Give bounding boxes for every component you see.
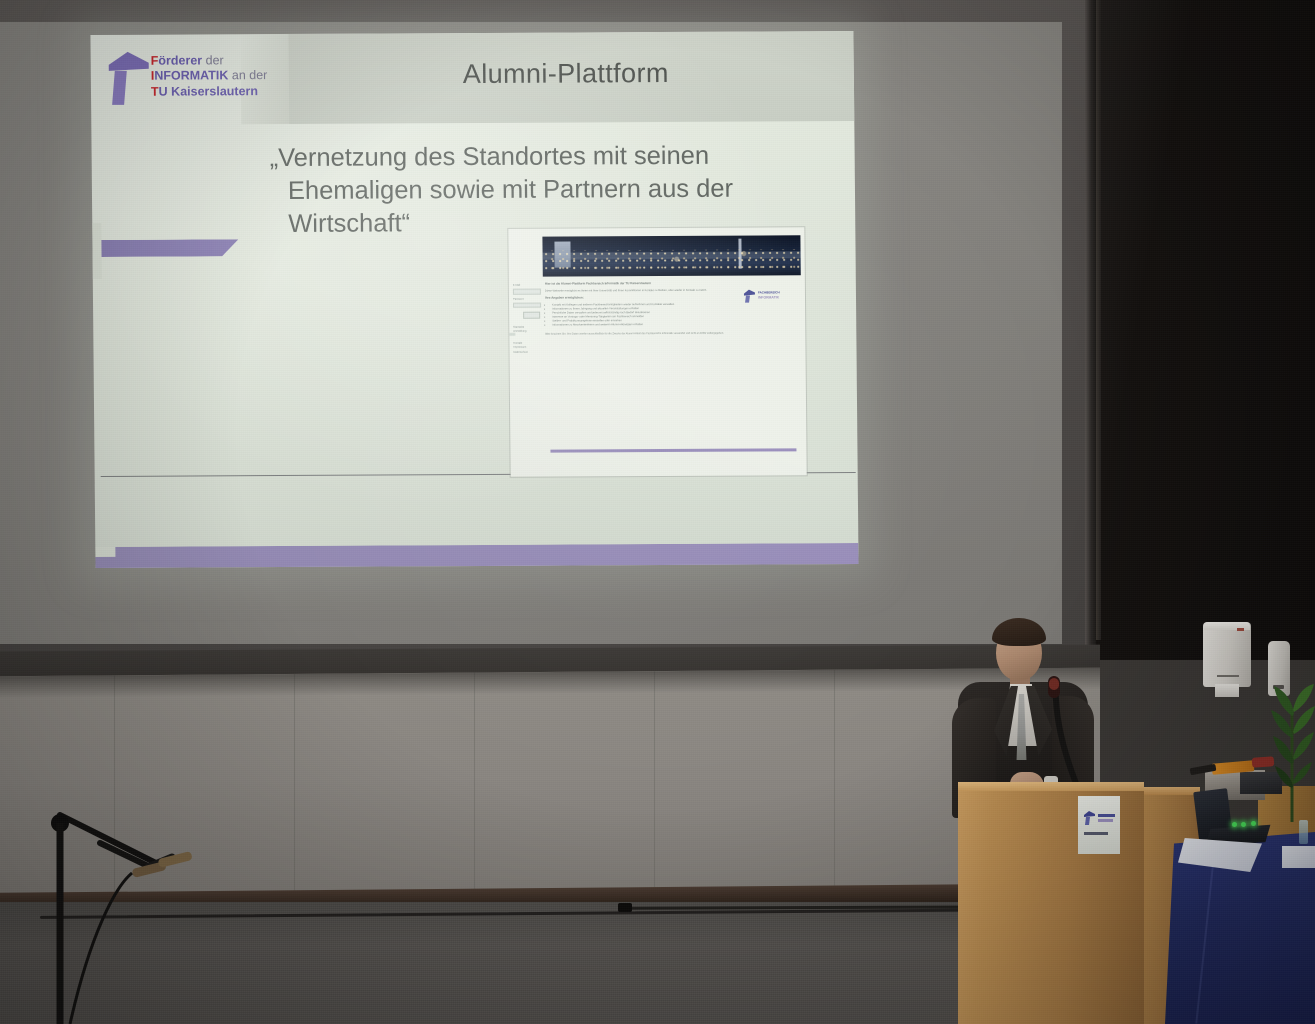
password-field[interactable] [513,303,541,309]
presenter-hair [992,618,1046,646]
slide-accent-bar-notch [92,223,102,279]
slide-quote: „Vernetzung des Standortes mit seinen Eh… [269,139,810,241]
logo-text-bottom: INFORMATIK [758,295,779,299]
website-bottom-rule [550,448,796,452]
foerderer-pillar-logo-mark [107,49,152,107]
website-list-intro: Ihre Angaben ermöglichen: [545,296,757,301]
email-label: E-Mail [513,285,541,288]
website-headline: Hier ist die Alumni-Plattform Fachbereic… [545,282,757,287]
projected-slide: Alumni-Plattform Förderer der INFORMATIK… [90,31,858,568]
logo-text-top: FACHBEREICH [758,290,780,294]
website-content: Hier ist die Alumni-Plattform Fachbereic… [545,282,758,337]
soap-dispenser-button[interactable] [1273,685,1284,689]
slide-accent-bar [100,239,238,257]
quote-line-1: „Vernetzung des Standortes mit seinen [269,142,709,172]
equipment-box-dark [1240,772,1282,794]
website-login-sidebar: E-Mail Passwort Startseite Anmeldung Kon… [513,285,542,356]
lectern-logo-sign [1078,796,1120,854]
laptop-status-led [1241,822,1246,827]
water-bottle [1299,820,1308,844]
login-button[interactable] [523,312,540,318]
website-feature-list: Kontakt mit Kollegen und anderen Fachber… [552,303,757,328]
red-object [1252,756,1275,768]
dispenser-slot [1217,675,1239,678]
password-label: Passwort [513,298,541,301]
quote-line-2: Ehemaligen sowie mit Partnern aus der [270,172,810,208]
nav-item-5[interactable]: Datenschutz [513,351,541,354]
photo-scene: Alumni-Plattform Förderer der INFORMATIK… [0,0,1315,1024]
paper-towel-dispenser[interactable] [1203,622,1251,687]
lectern-sign-text-top [1098,814,1115,817]
foerderer-informatik-logo: Förderer der INFORMATIK an der TU Kaiser… [103,46,284,109]
logo-text-block: Förderer der INFORMATIK an der TU Kaiser… [151,53,268,99]
website-banner-image [542,235,800,276]
email-field[interactable] [513,289,541,295]
cable-connector [618,903,632,912]
dispenser-brand-mark [1237,628,1244,631]
website-paragraph: Diese Webseite ermöglicht es Ihnen mit I… [545,288,757,293]
protruding-paper-towel [1215,684,1239,697]
lectern-top-edge [958,782,1144,791]
laptop-status-led [1251,821,1256,826]
wall-pillar-edge [1085,0,1096,660]
website-footer-note: Bitte beachten Sie: Ihre Daten werden au… [545,332,757,337]
logo-line-3: TU Kaiserslautern [151,84,268,100]
nav-item-2[interactable]: Anmeldung [513,331,541,334]
banner-city-lights [543,249,801,272]
website-left-marker [509,333,515,336]
lectern-sign-text-bottom [1098,819,1113,822]
nav-item-4[interactable]: Impressum [513,347,541,350]
logo-line-2: INFORMATIK an der [151,68,268,84]
website-fachbereich-logo: FACHBEREICH INFORMATIK [743,287,799,305]
soap-dispenser[interactable] [1268,641,1290,696]
logo-line-1: Förderer der [151,53,268,69]
fachbereich-pillar-icon [743,289,756,304]
slide-title: Alumni-Plattform [331,57,801,90]
slide-footer-bar [95,543,858,568]
paper-sheet-secondary [1282,846,1315,868]
lower-wall-panel [0,668,1100,909]
laptop-status-led [1232,822,1237,827]
slide-footer-bar-notch [95,547,115,557]
wall-pillar-edge-inner [1096,0,1101,640]
lectern-sign-underline [1084,832,1108,835]
list-item: Informationen zu Absolventenfeiern und w… [552,323,757,328]
lectern-sign-pillar-icon [1083,810,1096,826]
right-dark-wall [1093,0,1315,660]
embedded-website-screenshot: E-Mail Passwort Startseite Anmeldung Kon… [508,227,806,477]
